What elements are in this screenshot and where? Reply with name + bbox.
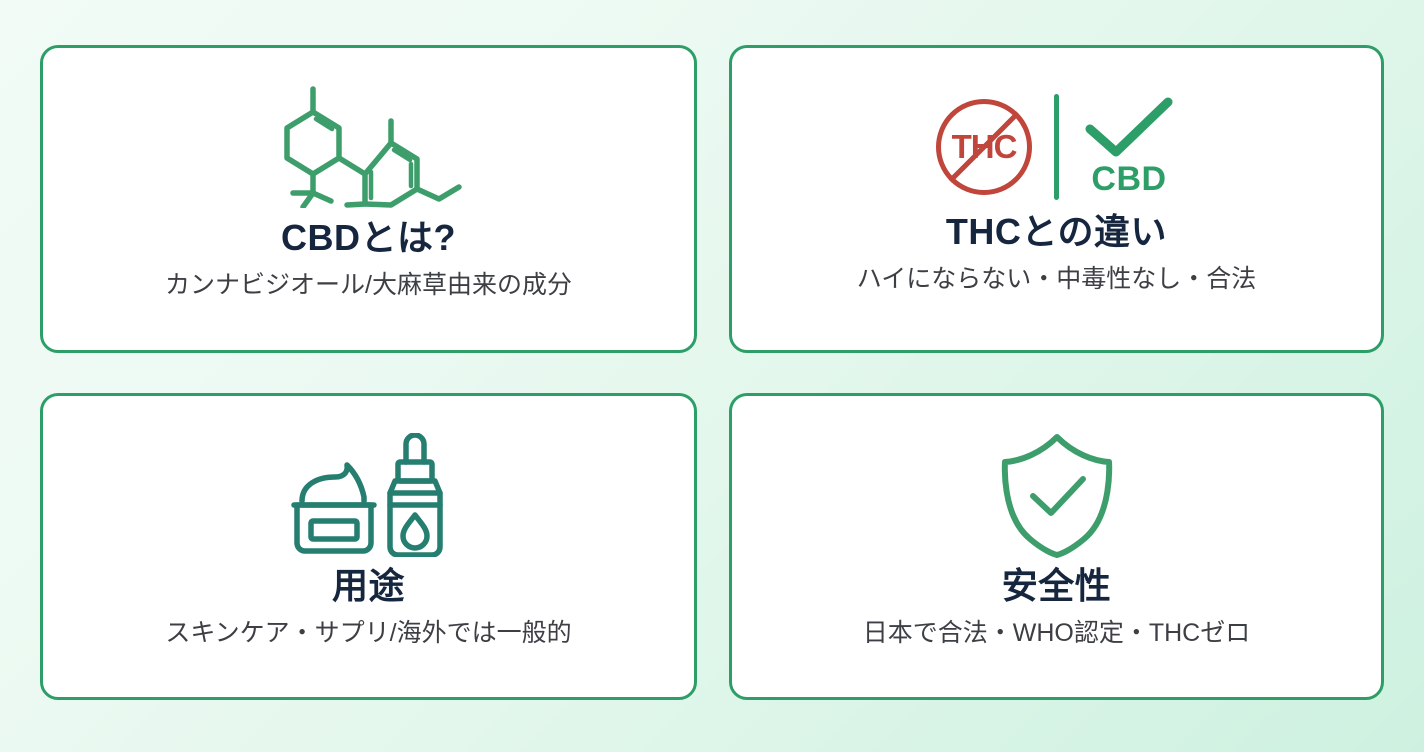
cbd-molecule-icon (269, 82, 469, 212)
cbd-approved-icon: CBD (1081, 96, 1177, 199)
card-safety[interactable]: 安全性 日本で合法・WHO認定・THCゼロ (729, 393, 1384, 700)
vertical-divider (1054, 94, 1059, 200)
thc-prohibited-vs-cbd-approved-icon: THC CBD (936, 82, 1177, 212)
card-title: CBDとは? (281, 218, 456, 258)
card-what-is-cbd[interactable]: CBDとは? カンナビジオール/大麻草由来の成分 (40, 45, 697, 353)
cream-jar-and-dropper-bottle-icon (289, 430, 449, 560)
cbd-label: CBD (1091, 160, 1166, 199)
card-difference-from-thc[interactable]: THC CBD THCとの違い ハイにならない・中毒性なし・合法 (729, 45, 1384, 353)
card-subtitle: 日本で合法・WHO認定・THCゼロ (863, 618, 1250, 649)
card-uses[interactable]: 用途 スキンケア・サプリ/海外では一般的 (40, 393, 697, 700)
card-title: THCとの違い (946, 212, 1167, 252)
thc-prohibited-icon: THC (936, 99, 1032, 195)
cbd-info-card-grid: CBDとは? カンナビジオール/大麻草由来の成分 THC CBD THCとの違い… (0, 0, 1424, 752)
card-subtitle: カンナビジオール/大麻草由来の成分 (165, 270, 572, 301)
card-title: 用途 (332, 566, 405, 606)
card-subtitle: スキンケア・サプリ/海外では一般的 (165, 618, 571, 649)
shield-check-icon (995, 430, 1119, 560)
card-subtitle: ハイにならない・中毒性なし・合法 (857, 264, 1257, 295)
card-title: 安全性 (1002, 566, 1112, 606)
check-icon (1081, 96, 1177, 158)
check-icon (1033, 479, 1083, 513)
